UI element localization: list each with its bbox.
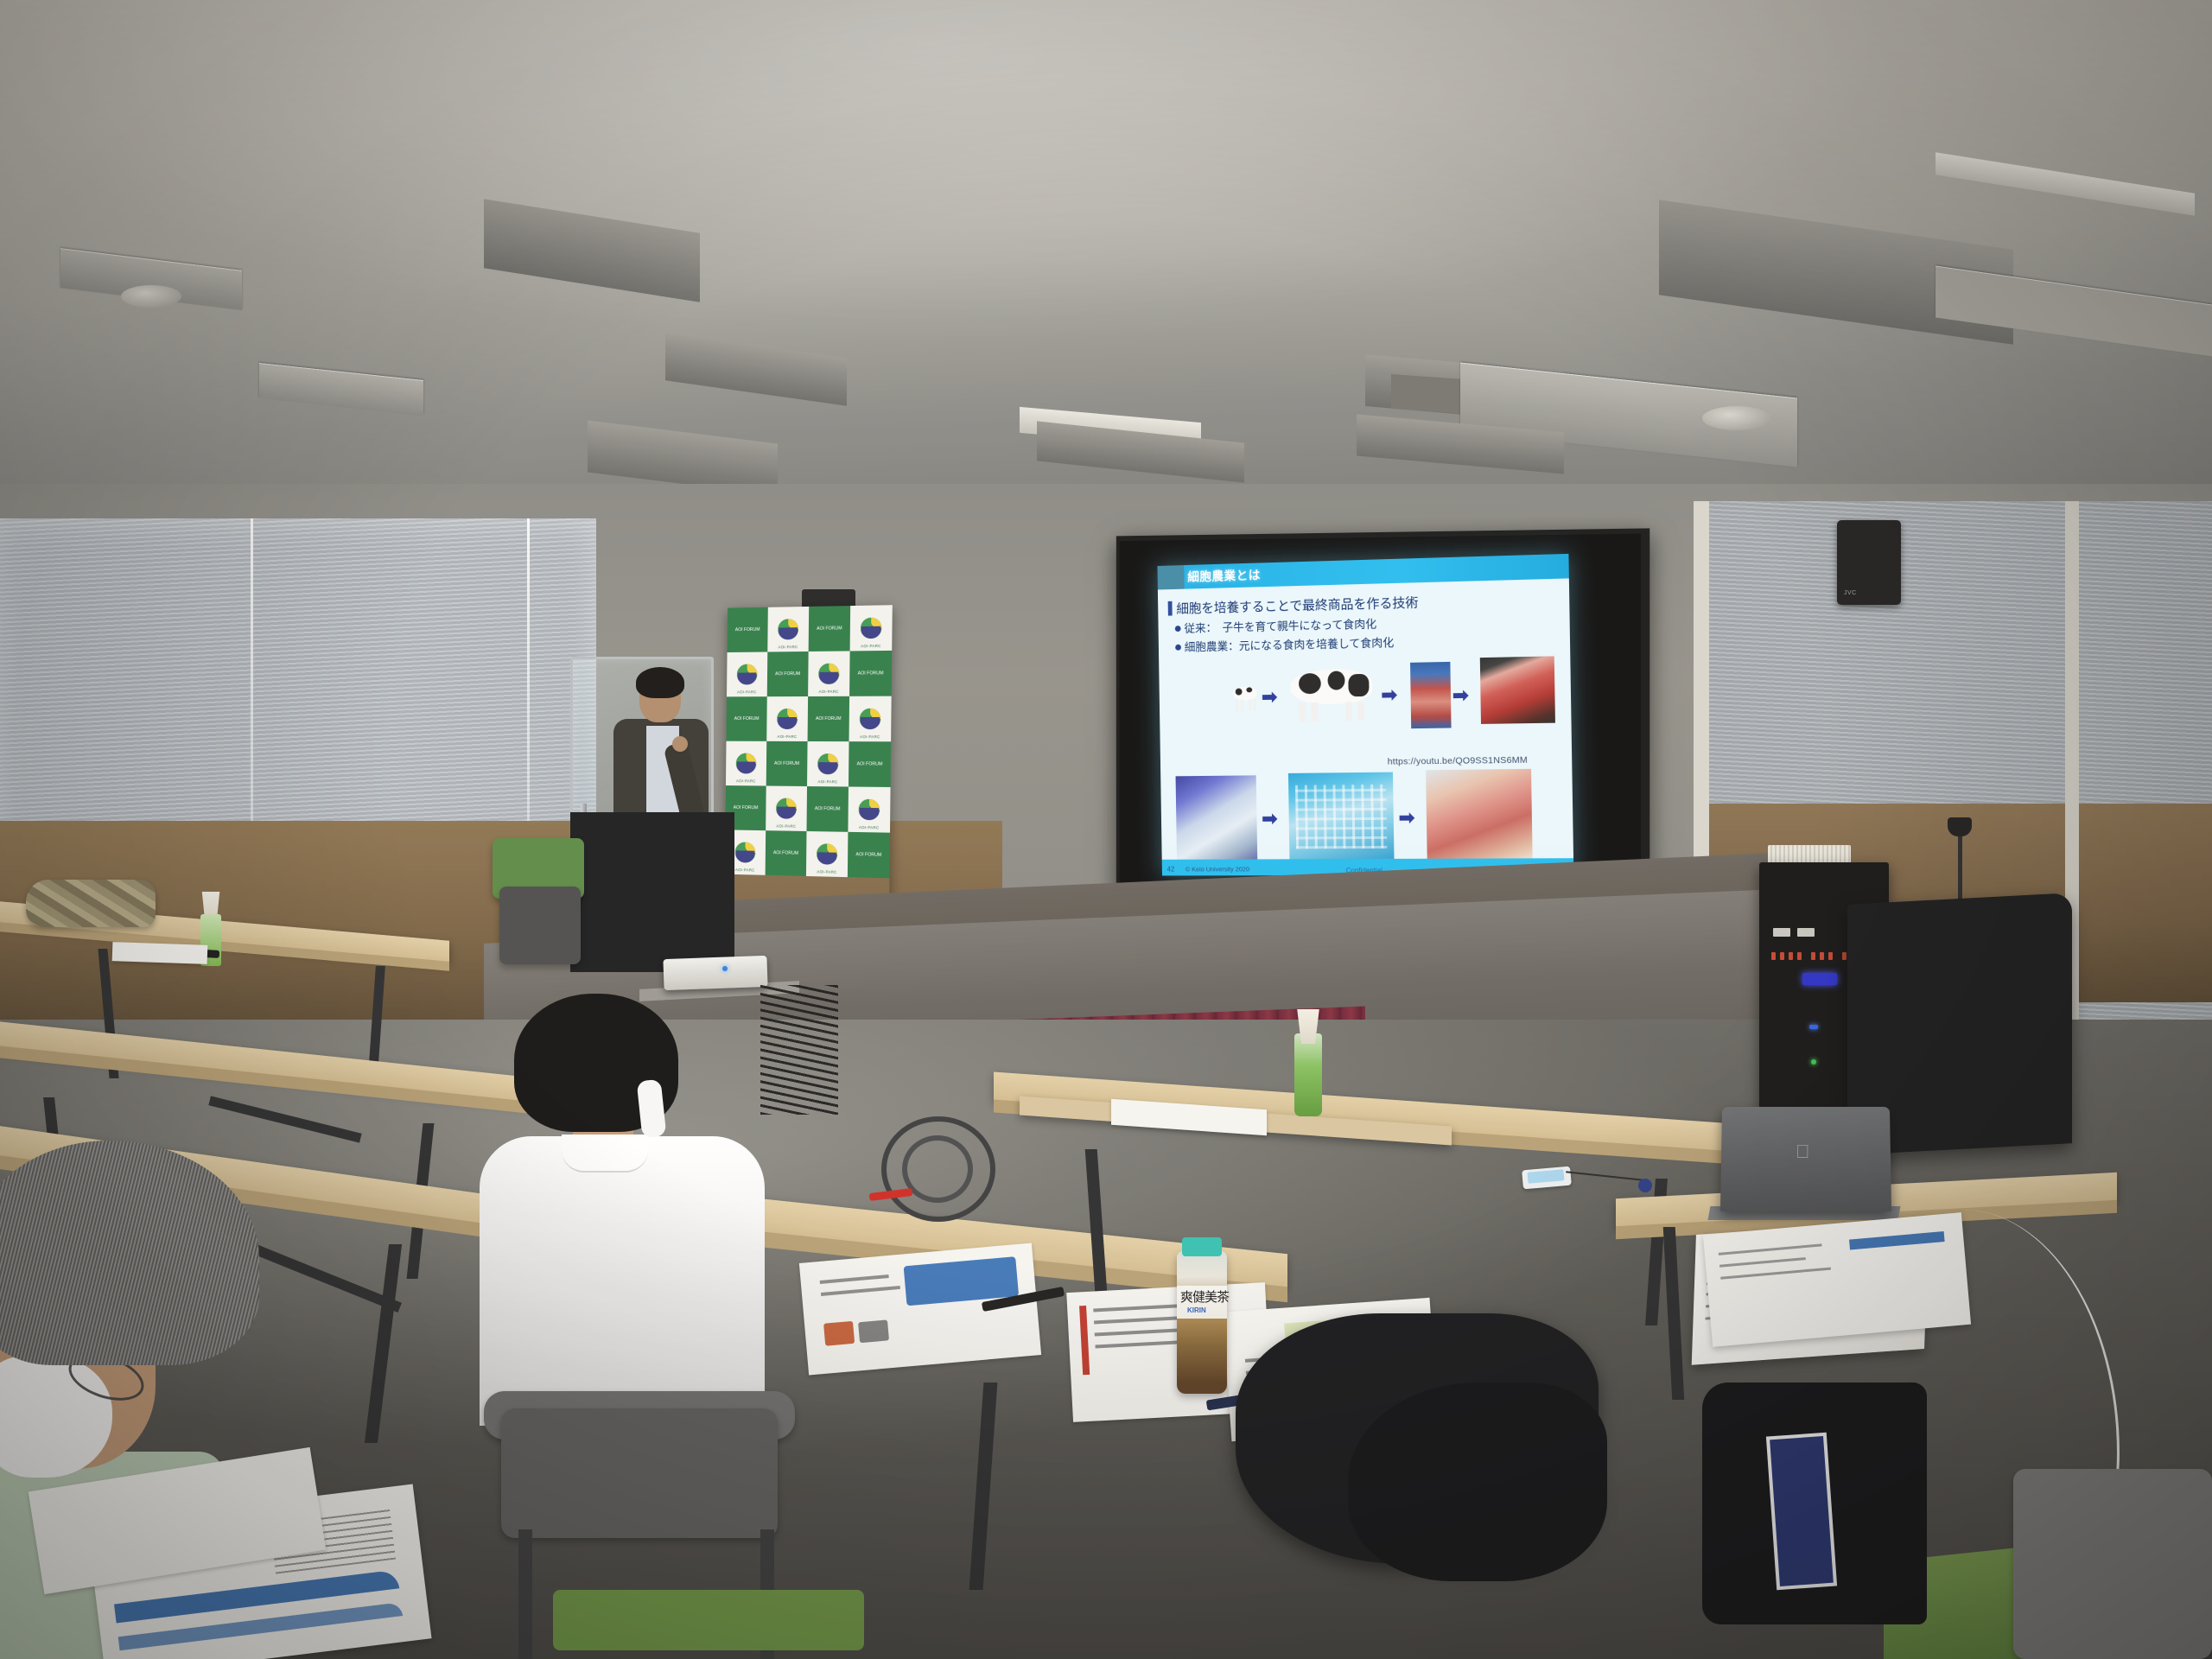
aoi-circle-logo <box>861 618 882 639</box>
banner-parc-text: AOI-PARC <box>850 644 893 649</box>
banner-tile: AOI FORUM <box>726 696 766 741</box>
aoi-circle-logo <box>860 709 881 729</box>
banner-tile: AOI-PARC <box>848 786 890 832</box>
green-floor-mat <box>553 1590 864 1650</box>
heading-accent-bar <box>1168 601 1173 616</box>
slide-page-number: 42 <box>1167 866 1175 874</box>
slide-copyright: © Keio University 2020 <box>1185 865 1249 873</box>
slide-bullet-2-text: 細胞農業：元になる食肉を培養して食肉化 <box>1185 636 1395 653</box>
ground-meat-photo <box>1426 769 1533 861</box>
attendee-hair <box>0 1141 259 1365</box>
banner-tile: AOI FORUM <box>809 606 851 652</box>
banner-forum-text: AOI FORUM <box>855 852 881 858</box>
banner-tile: AOI-PARC <box>726 741 766 786</box>
banner-parc-text: AOI-PARC <box>849 734 892 739</box>
banner-forum-text: AOI FORUM <box>858 671 884 676</box>
green-drink-bottle[interactable] <box>1294 1033 1322 1116</box>
bullet-dot-icon <box>1175 645 1181 651</box>
banner-forum-text: AOI FORUM <box>734 805 759 810</box>
slide-body: 細胞を培養することで最終商品を作る技術 従来： 子牛を育て親牛になって食肉化 細… <box>1158 580 1573 846</box>
gooseneck-microphone[interactable] <box>1948 817 1972 836</box>
rack-lcd-display <box>1802 973 1837 985</box>
aoi-circle-logo <box>817 753 838 774</box>
banner-tile: AOI-PARC <box>767 607 809 652</box>
banner-tile: AOI FORUM <box>728 607 768 652</box>
banner-forum-text: AOI FORUM <box>775 671 800 677</box>
cow-photo <box>1285 665 1380 724</box>
brochure[interactable] <box>1703 1212 1971 1347</box>
presenter-hair <box>636 667 684 698</box>
aoi-circle-logo <box>777 709 798 729</box>
arrow-icon: ➡ <box>1262 688 1277 707</box>
tea-bottle-cap[interactable] <box>1182 1237 1222 1256</box>
banner-forum-text: AOI FORUM <box>734 716 760 721</box>
tea-brand-kanji: 爽健美茶 <box>1180 1287 1229 1306</box>
arrow-icon: ➡ <box>1452 686 1469 706</box>
well-plate-photo <box>1288 772 1395 861</box>
black-jacket-fold <box>1348 1382 1607 1581</box>
banner-tile: AOI-PARC <box>807 741 849 786</box>
aoi-circle-logo <box>859 799 880 821</box>
banner-forum-text: AOI FORUM <box>857 761 883 766</box>
slide-bullet-1: 従来： 子牛を育て親牛になって食肉化 <box>1175 615 1377 636</box>
slide-bullet-1-text: 従来： 子牛を育て親牛になって食肉化 <box>1184 618 1376 635</box>
chair[interactable] <box>2013 1469 2212 1659</box>
banner-tile: AOI-PARC <box>766 696 808 741</box>
banner-parc-text: AOI-PARC <box>767 645 808 650</box>
chair-leg <box>518 1529 532 1659</box>
bullet-dot-icon <box>1175 626 1181 632</box>
steak-photo <box>1480 656 1555 724</box>
banner-parc-text: AOI-PARC <box>808 690 849 694</box>
rack-status-led <box>1811 1059 1816 1065</box>
microphone-stand <box>1958 831 1962 900</box>
banner-tile: AOI FORUM <box>808 696 850 741</box>
banner-tile: AOI FORUM <box>766 741 808 786</box>
banner-forum-text: AOI FORUM <box>735 627 760 632</box>
aoi-circle-logo <box>776 798 797 819</box>
slide-url: https://youtu.be/QO9SS1NS6MM <box>1388 755 1528 767</box>
handout-papers[interactable] <box>799 1243 1041 1375</box>
wall-speaker: JVC <box>1837 520 1901 605</box>
banner-parc-text: AOI-PARC <box>766 734 807 739</box>
window-blinds-left[interactable] <box>0 518 596 864</box>
slide-bullet-2: 細胞農業：元になる食肉を培養して食肉化 <box>1175 633 1394 655</box>
carcass-photo <box>1410 662 1452 728</box>
aoi-circle-logo <box>778 619 798 639</box>
banner-tile: AOI-PARC <box>849 696 892 742</box>
banner-forum-text: AOI FORUM <box>815 806 840 811</box>
banner-parc-text: AOI-PARC <box>766 823 806 829</box>
slide-heading: 細胞を培養することで最終商品を作る技術 <box>1168 593 1419 617</box>
aoi-circle-logo <box>817 843 837 865</box>
banner-parc-text: AOI-PARC <box>727 690 767 694</box>
banner-forum-text: AOI FORUM <box>817 626 842 631</box>
banner-forum-text: AOI FORUM <box>773 850 798 856</box>
slide-title: 細胞農業とは <box>1187 566 1261 585</box>
banner-tile: AOI-PARC <box>727 652 767 696</box>
navy-folder[interactable] <box>1766 1433 1837 1590</box>
chair-back[interactable] <box>499 887 581 964</box>
attendee-white-shirt <box>480 994 765 1426</box>
rack-power-led <box>1809 1025 1818 1029</box>
attendee-collar <box>562 1135 648 1173</box>
handout-papers[interactable] <box>112 942 208 964</box>
apple-logo-icon:  <box>1796 1142 1815 1163</box>
banner-tile: AOI FORUM <box>848 832 890 879</box>
slide-heading-text: 細胞を培養することで最終商品を作る技術 <box>1176 595 1418 616</box>
table-projector[interactable] <box>663 956 767 990</box>
earbud[interactable] <box>1638 1179 1652 1192</box>
banner-parc-text: AOI-PARC <box>807 779 849 784</box>
banner-parc-text: AOI-PARC <box>726 779 766 783</box>
projected-slide: 細胞農業とは 細胞を培養することで最終商品を作る技術 従来： 子牛を育て親牛にな… <box>1157 554 1573 876</box>
banner-tile: AOI FORUM <box>766 830 807 876</box>
attendee-shirt <box>480 1136 765 1426</box>
podium <box>570 812 734 972</box>
arrow-icon: ➡ <box>1262 810 1277 829</box>
banner-tile: AOI FORUM <box>806 786 848 832</box>
cable-coil[interactable] <box>902 1135 973 1203</box>
slide-title-tab <box>1157 565 1184 589</box>
seminar-room-photo: JVC 細胞農業とは 細胞を培養することで最終商品を作る技術 従来： 子牛を育て… <box>0 0 2212 1659</box>
banner-tile: AOI-PARC <box>806 831 848 877</box>
aoi-circle-logo <box>737 664 758 685</box>
banner-tile: AOI-PARC <box>808 651 850 696</box>
aoi-circle-logo <box>736 753 757 774</box>
cable-bundle <box>760 985 838 1115</box>
ceiling-dome-light <box>121 285 181 308</box>
banner-tile: AOI FORUM <box>849 651 892 696</box>
tea-brand-name: KIRIN <box>1187 1306 1206 1314</box>
camo-bag[interactable] <box>26 880 156 927</box>
banner-forum-text: AOI FORUM <box>774 761 799 766</box>
aoi-circle-logo <box>735 842 756 862</box>
banner-tile: AOI FORUM <box>849 741 891 787</box>
aoi-circle-logo <box>818 664 839 684</box>
arrow-icon: ➡ <box>1399 809 1415 828</box>
ceiling-dome-light <box>1702 406 1771 430</box>
pipetting-photo <box>1176 775 1258 861</box>
banner-forum-text: AOI FORUM <box>816 716 841 721</box>
banner-tile: AOI FORUM <box>767 652 809 696</box>
arrow-icon: ➡ <box>1381 685 1397 704</box>
projector-power-led <box>722 966 728 971</box>
calf-photo <box>1228 681 1261 712</box>
chair-back[interactable] <box>501 1408 778 1538</box>
presenter-hand <box>672 736 688 752</box>
banner-tile: AOI-PARC <box>766 786 807 831</box>
banner-tile: AOI-PARC <box>850 605 893 651</box>
speaker-brand-label: JVC <box>1844 590 1857 596</box>
tea-bottle[interactable] <box>1177 1251 1227 1394</box>
banner-parc-text: AOI-PARC <box>806 869 848 874</box>
banner-parc-text: AOI-PARC <box>848 825 890 830</box>
